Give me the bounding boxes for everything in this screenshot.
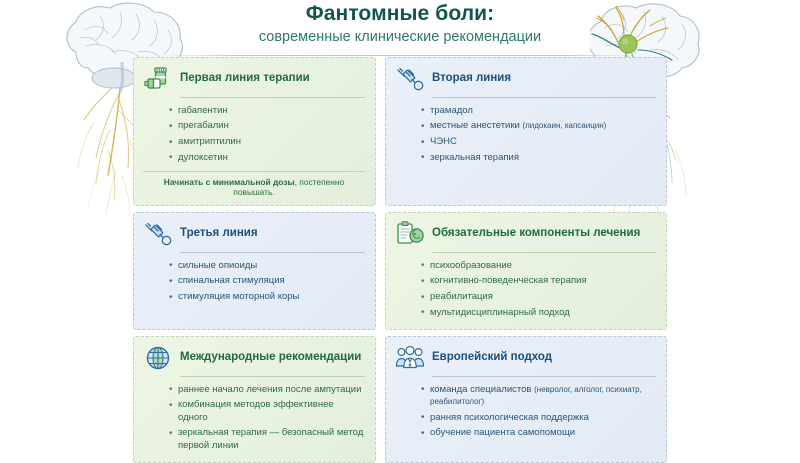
list-item: дулоксетин <box>169 150 365 166</box>
header: Фантомные боли: современные клинические … <box>0 2 800 56</box>
list-item: команда специалистов (невролог, алголог,… <box>421 382 656 410</box>
card-mandatory-components: Обязательные компоненты лечения психообр… <box>385 212 667 330</box>
globe-icon <box>143 344 173 372</box>
list-item: реабилитация <box>421 289 656 305</box>
recommendation-cards-grid: Первая линия терапии габапентин прегабал… <box>133 57 667 463</box>
list-item: мультидисциплинарный подход <box>421 305 656 321</box>
card-title-divider <box>432 97 656 98</box>
card-header: Международные рекомендации <box>143 344 365 375</box>
list-item: психообразование <box>421 258 656 274</box>
medical-team-icon <box>395 344 425 372</box>
list-item: зеркальная терапия <box>421 150 656 166</box>
list-item: обучение пациента самопомощи <box>421 426 656 442</box>
list-item: когнитивно-поведенческая терапия <box>421 274 656 290</box>
card-header: Европейский подход <box>395 344 656 375</box>
list-item: комбинация методов эффективнее одного <box>169 398 365 426</box>
card-title: Вторая линия <box>432 72 656 85</box>
card-title: Обязательные компоненты лечения <box>432 227 656 240</box>
page-title: Фантомные боли: <box>0 2 800 26</box>
card-header: Вторая линия <box>395 65 656 96</box>
list-item: прегабалин <box>169 119 365 135</box>
list-item: местные анестетики (лидокаин, капсаицин) <box>421 119 656 135</box>
card-title-divider <box>180 252 365 253</box>
card-title-divider <box>180 376 365 377</box>
card-header: Обязательные компоненты лечения <box>395 220 656 251</box>
list-item: сильные опиоиды <box>169 258 365 274</box>
card-title-divider <box>432 252 656 253</box>
card-bullet-list: команда специалистов (невролог, алголог,… <box>395 382 656 442</box>
card-title: Международные рекомендации <box>180 351 365 364</box>
pill-bottle-icon <box>143 65 173 93</box>
card-second-line: Вторая линия трамадол местные анестетики… <box>385 57 667 206</box>
syringe-icon <box>143 220 173 248</box>
footer-emphasis: Начинать с минимальной дозы <box>164 177 295 187</box>
list-item: ЧЭНС <box>421 134 656 150</box>
card-bullet-list: сильные опиоиды спинальная стимуляция ст… <box>143 258 365 305</box>
card-title-divider <box>432 376 656 377</box>
list-item: ранняя психологическая поддержка <box>421 410 656 426</box>
card-bullet-list: психообразование когнитивно-поведенческа… <box>395 258 656 321</box>
list-item: трамадол <box>421 103 656 119</box>
list-item: габапентин <box>169 103 365 119</box>
list-item: спинальная стимуляция <box>169 274 365 290</box>
card-bullet-list: трамадол местные анестетики (лидокаин, к… <box>395 103 656 166</box>
card-bullet-list: габапентин прегабалин амитриптилин дулок… <box>143 103 365 166</box>
clipboard-head-icon <box>395 220 425 248</box>
card-title: Первая линия терапии <box>180 72 365 85</box>
card-european-approach: Европейский подход команда специалистов … <box>385 336 667 463</box>
card-title: Европейский подход <box>432 351 656 364</box>
card-footer-note: Начинать с минимальной дозы, постепенно … <box>143 171 365 197</box>
list-item: стимуляция моторной коры <box>169 289 365 305</box>
card-third-line: Третья линия сильные опиоиды спинальная … <box>133 212 376 330</box>
card-title: Третья линия <box>180 227 365 240</box>
card-header: Третья линия <box>143 220 365 251</box>
card-first-line: Первая линия терапии габапентин прегабал… <box>133 57 376 206</box>
header-divider <box>160 55 640 56</box>
list-item: зеркальная терапия — безопасный метод пе… <box>169 426 365 454</box>
card-bullet-list: раннее начало лечения после ампутации ко… <box>143 382 365 454</box>
list-item: раннее начало лечения после ампутации <box>169 382 365 398</box>
card-title-divider <box>180 97 365 98</box>
syringe-icon <box>395 65 425 93</box>
item-note: (лидокаин, капсаицин) <box>522 121 606 130</box>
card-international-guidelines: Международные рекомендации раннее начало… <box>133 336 376 463</box>
card-header: Первая линия терапии <box>143 65 365 96</box>
page-subtitle: современные клинические рекомендации <box>0 29 800 46</box>
list-item: амитриптилин <box>169 134 365 150</box>
